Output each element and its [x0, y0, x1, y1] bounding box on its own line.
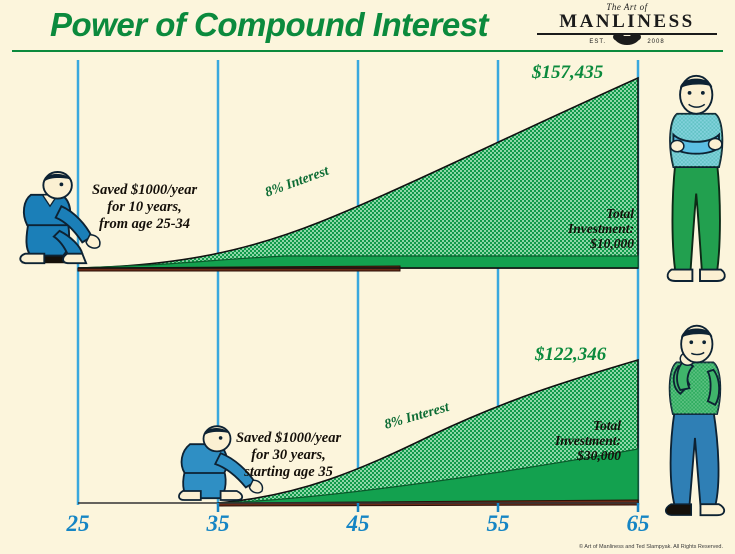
- note-line: Saved $1000/year: [92, 182, 197, 199]
- total-line: $30,000: [555, 448, 621, 463]
- total-investment-early-saver: Total Investment: $10,000: [568, 206, 634, 251]
- axis-tick-65: 65: [627, 511, 650, 537]
- total-line: Investment:: [568, 221, 634, 236]
- total-line: Total: [555, 418, 621, 433]
- compound-interest-chart: [0, 0, 735, 554]
- total-line: Investment:: [555, 433, 621, 448]
- note-line: Saved $1000/year: [236, 430, 341, 447]
- axis-tick-45: 45: [347, 511, 370, 537]
- value-label-early-saver: $157,435: [532, 62, 603, 84]
- note-line: for 30 years,: [236, 447, 341, 464]
- copyright-credit: © Art of Manliness and Ted Slampyak. All…: [579, 544, 723, 550]
- axis-tick-25: 25: [67, 511, 90, 537]
- axis-tick-55: 55: [487, 511, 510, 537]
- total-investment-late-saver: Total Investment: $30,000: [555, 418, 621, 463]
- total-line: Total: [568, 206, 634, 221]
- note-line: from age 25-34: [92, 216, 197, 233]
- man-planting-seed-top: [20, 172, 100, 263]
- note-late-saver: Saved $1000/year for 30 years, starting …: [236, 430, 341, 481]
- man-thinking: [666, 326, 724, 516]
- man-arms-crossed: [668, 76, 725, 281]
- note-line: starting age 35: [236, 464, 341, 481]
- infographic-canvas: Power of Compound Interest The Art of MA…: [0, 0, 735, 554]
- value-label-late-saver: $122,346: [535, 344, 606, 366]
- note-early-saver: Saved $1000/year for 10 years, from age …: [92, 182, 197, 233]
- note-line: for 10 years,: [92, 199, 197, 216]
- total-line: $10,000: [568, 236, 634, 251]
- axis-tick-35: 35: [207, 511, 230, 537]
